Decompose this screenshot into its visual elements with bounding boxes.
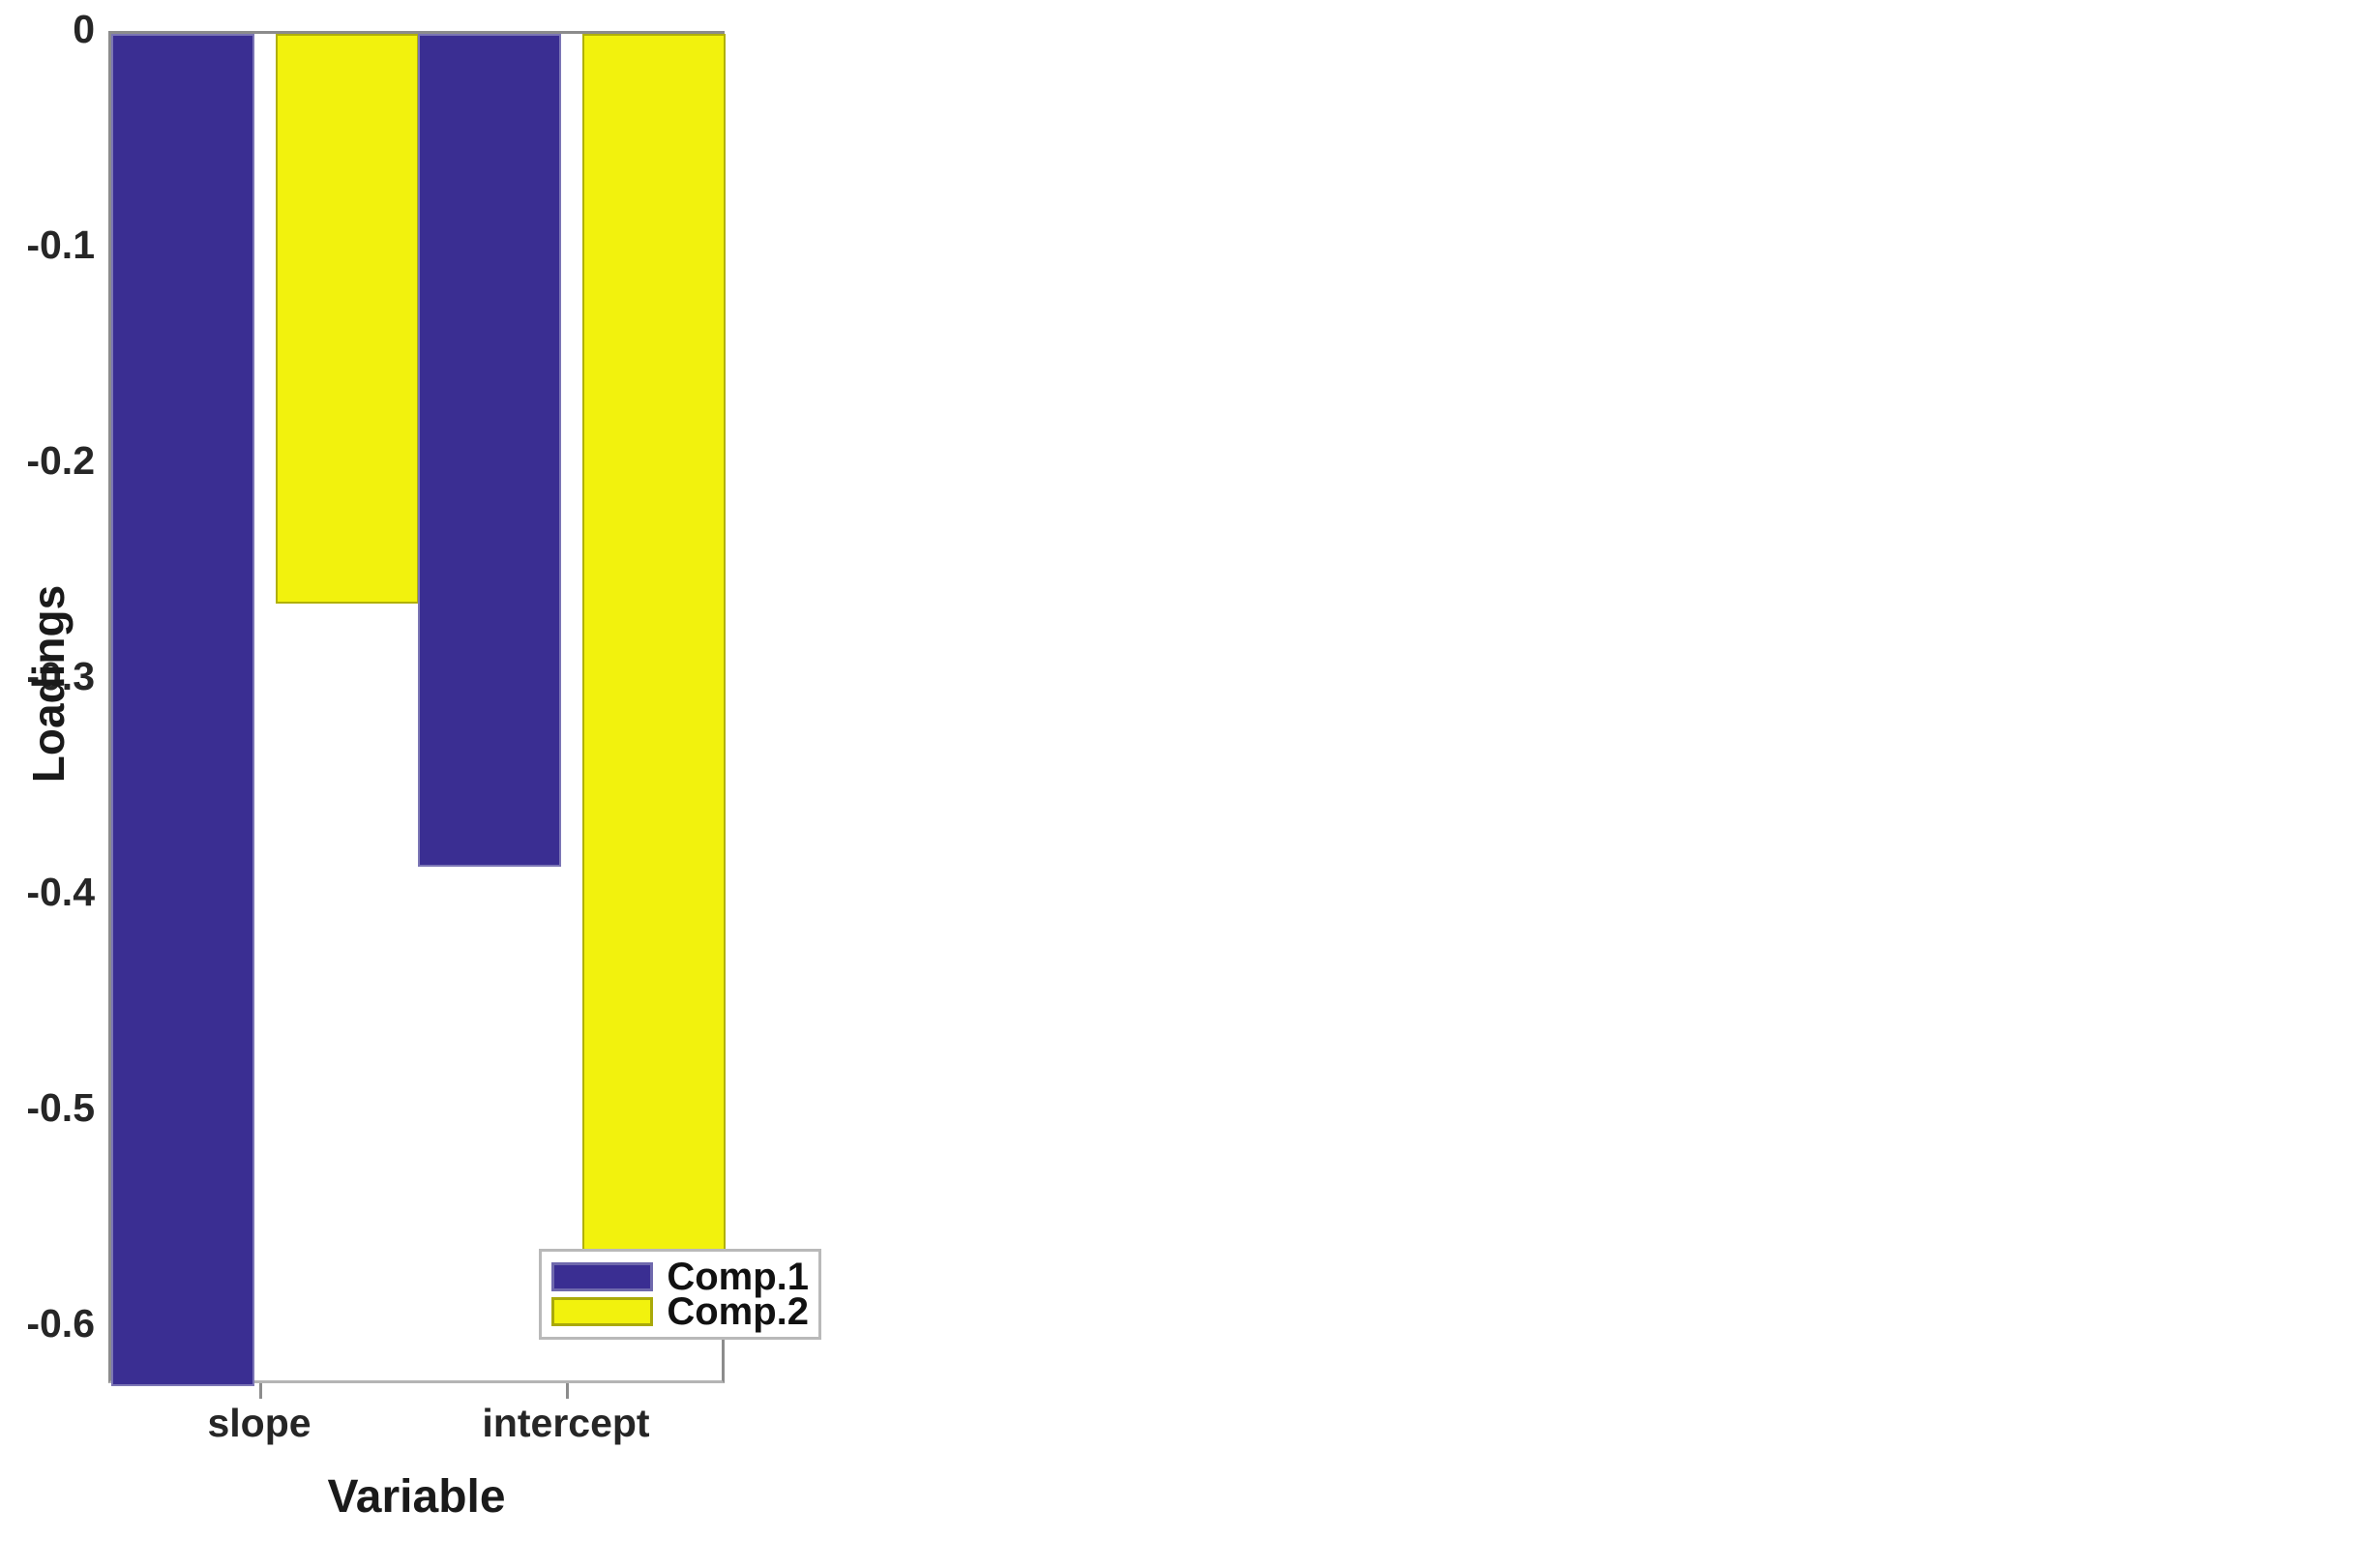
bar-comp2-slope <box>276 34 419 604</box>
panel-line-loadings: 0.07 0.06 0.05 0.04 0.03 0.02 0.01 0 Loa… <box>1190 0 2375 1568</box>
figure-two-panel-loadings: 0 -0.1 -0.2 -0.3 -0.4 -0.5 -0.6 Loadings… <box>0 0 2375 1568</box>
left-plot-area <box>108 31 725 1383</box>
left-ytick-m0_1: -0.1 <box>26 225 95 265</box>
left-ytick-m0_4: -0.4 <box>26 873 95 912</box>
bar-comp1-intercept <box>418 34 561 867</box>
left-ytick-m0_5: -0.5 <box>26 1088 95 1128</box>
left-x-axis-title: Variable <box>108 1470 725 1524</box>
left-xtick-mark-intercept <box>566 1383 569 1399</box>
bar-comp2-intercept <box>582 34 726 1307</box>
left-ytick-m0_2: -0.2 <box>26 441 95 481</box>
left-ytick-0: 0 <box>73 10 95 49</box>
bar-comp1-slope <box>111 34 254 1386</box>
left-legend-swatch-comp2 <box>551 1297 653 1326</box>
left-ytick-m0_6: -0.6 <box>26 1304 95 1344</box>
panel-bar-loadings: 0 -0.1 -0.2 -0.3 -0.4 -0.5 -0.6 Loadings… <box>0 0 1190 1568</box>
left-legend-label-comp2: Comp.2 <box>667 1292 809 1331</box>
left-legend-item-comp1: Comp.1 <box>551 1260 809 1293</box>
left-legend-item-comp2: Comp.2 <box>551 1295 809 1328</box>
left-xtick-intercept: intercept <box>482 1401 649 1446</box>
left-xtick-mark-slope <box>259 1383 262 1399</box>
left-xtick-slope: slope <box>207 1401 311 1446</box>
left-legend: Comp.1 Comp.2 <box>539 1249 821 1340</box>
left-y-axis-title: Loadings <box>22 577 74 790</box>
left-legend-swatch-comp1 <box>551 1262 653 1291</box>
